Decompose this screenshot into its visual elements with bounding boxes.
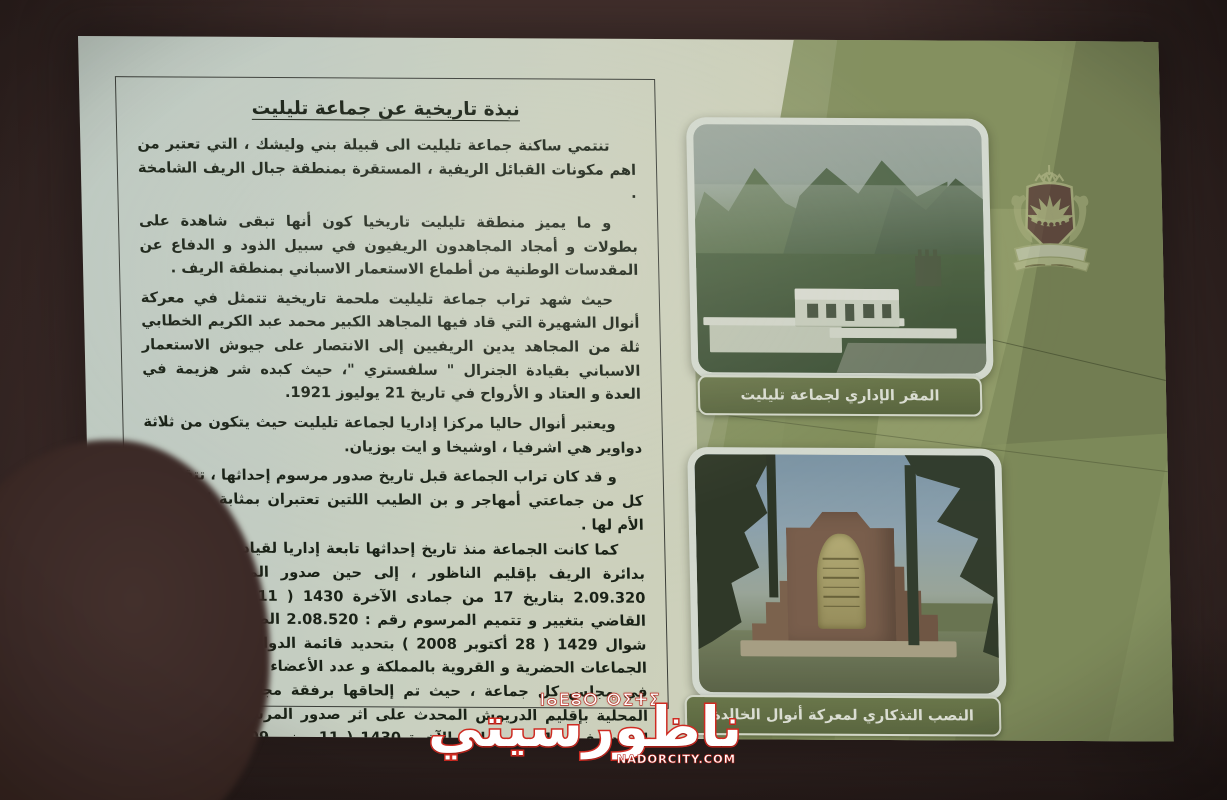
photo-card-admin-hq bbox=[686, 117, 994, 381]
commemorative-plaque bbox=[816, 533, 866, 628]
slide-title: نبذة تاريخية عن جماعة تليليت bbox=[136, 97, 635, 121]
paragraph-2: و ما يميز منطقة تليليت تاريخيا كون أنها … bbox=[139, 209, 639, 283]
atmospheric-haze bbox=[694, 184, 984, 260]
building-roofline bbox=[795, 288, 899, 300]
photo-card-memorial bbox=[687, 447, 1007, 701]
monument-base bbox=[740, 640, 956, 658]
paragraph-1: تنتمي ساكنة جماعة تليليت الى قبيلة بني و… bbox=[137, 132, 637, 206]
photo-admin-hq bbox=[693, 124, 987, 373]
photo-memorial bbox=[694, 454, 999, 694]
caption-admin-hq: المقر الإداري لجماعة تليليت bbox=[698, 375, 983, 416]
moroccan-coat-of-arms-icon bbox=[997, 153, 1104, 294]
front-wall bbox=[830, 328, 957, 339]
caption-memorial: النصب التذكاري لمعركة أنوال الخالدة bbox=[685, 695, 1002, 737]
watermark-latin: NADORCITY.COM bbox=[617, 752, 736, 766]
paragraph-4: ويعتبر أنوال حاليا مركزا إداريا لجماعة ت… bbox=[143, 410, 642, 460]
projection-room-scene: نبذة تاريخية عن جماعة تليليت تنتمي ساكنة… bbox=[0, 0, 1227, 800]
paragraph-3: حيث شهد تراب جماعة تليليت ملحمة تاريخية … bbox=[140, 286, 641, 407]
road bbox=[837, 343, 987, 373]
